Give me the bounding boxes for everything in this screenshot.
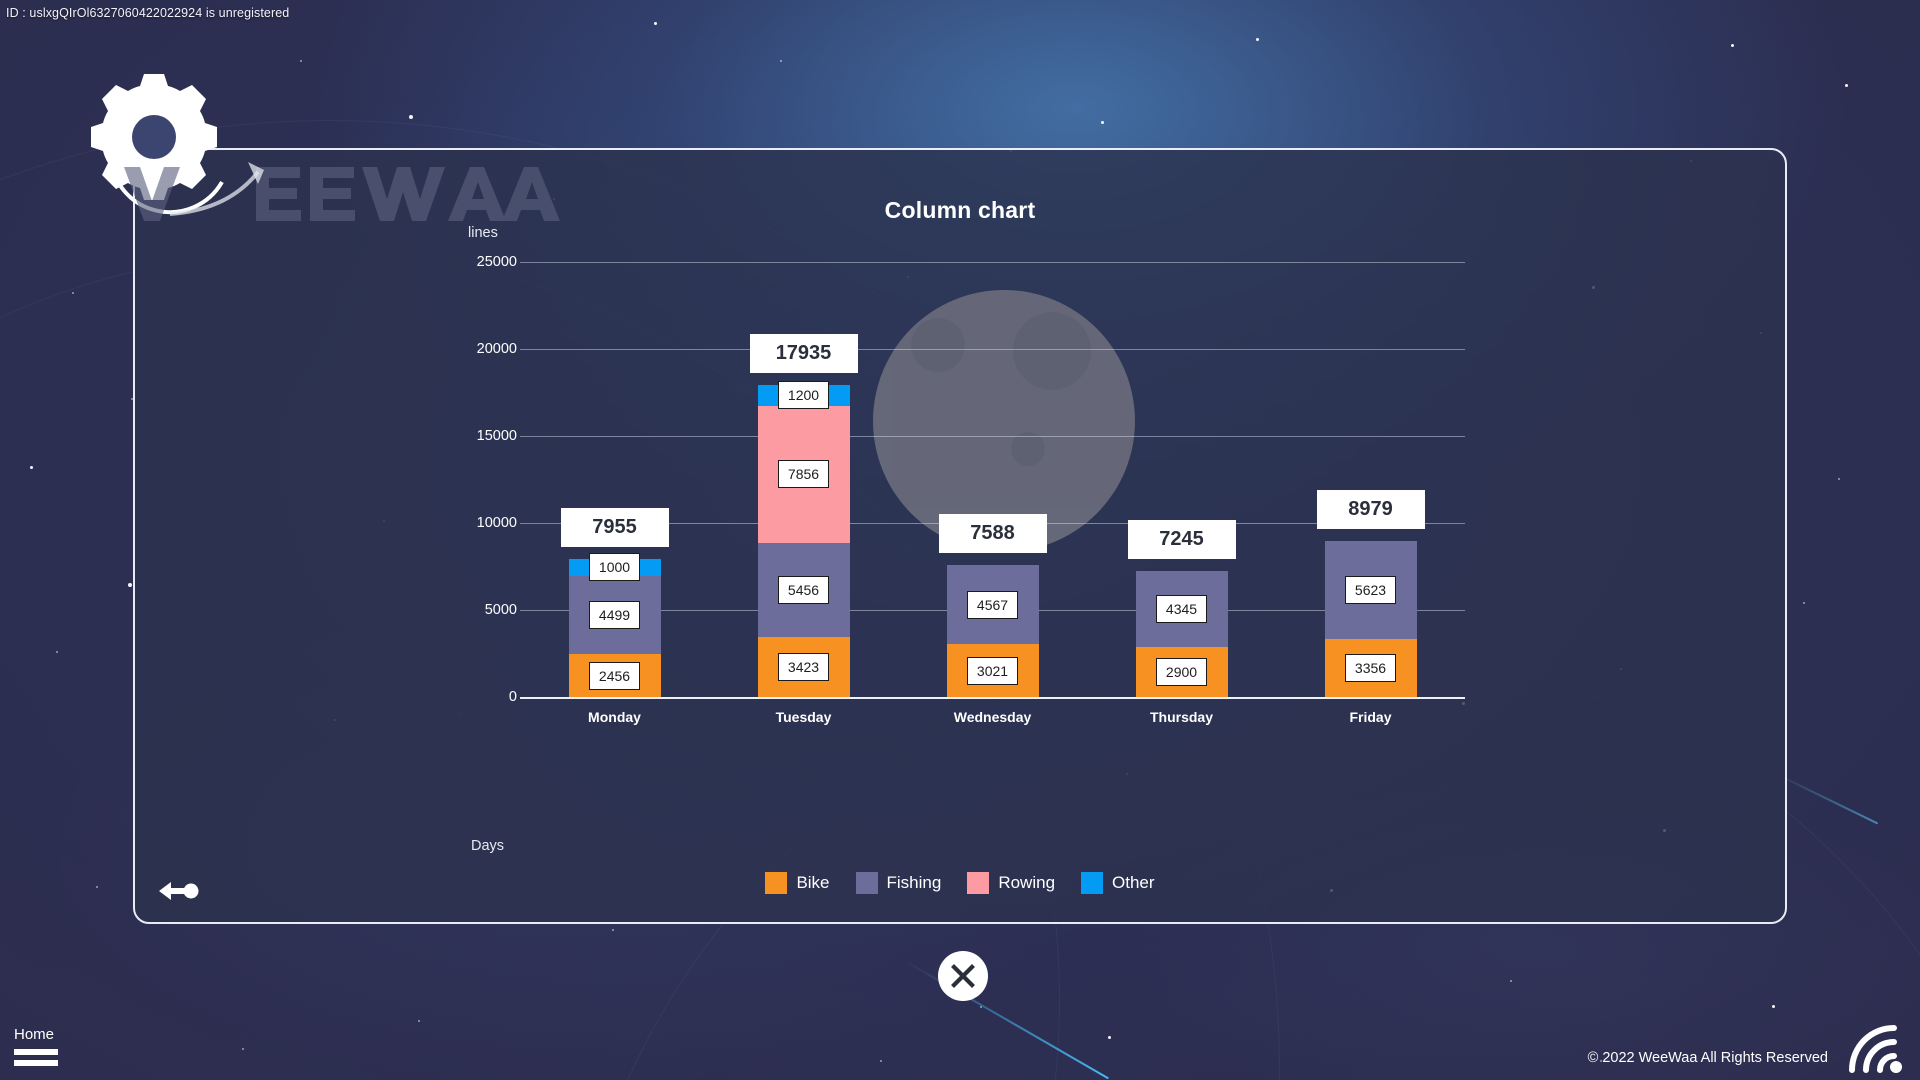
y-axis-tick-label: 5000	[485, 602, 517, 618]
bar-group[interactable]: 302145677588Wednesday	[947, 565, 1039, 697]
legend-swatch	[1081, 872, 1103, 894]
back-arrow-icon[interactable]	[157, 878, 201, 904]
legend-label: Fishing	[887, 873, 942, 893]
wifi-signal-icon	[1842, 1018, 1914, 1076]
bar-segment[interactable]: 1200	[758, 385, 850, 406]
unregistered-id-notice: ID : uslxgQIrOl6327060422022924 is unreg…	[6, 6, 289, 20]
legend-swatch	[967, 872, 989, 894]
axis-baseline	[520, 697, 1465, 699]
y-axis-tick-label: 20000	[477, 341, 517, 357]
gridline	[520, 436, 1465, 437]
legend-item[interactable]: Fishing	[856, 872, 942, 894]
bar-group[interactable]: 290043457245Thursday	[1136, 571, 1228, 697]
legend-item[interactable]: Other	[1081, 872, 1155, 894]
home-indicator-bar-2	[14, 1060, 58, 1066]
x-axis-category-label: Wednesday	[954, 709, 1032, 725]
legend-item[interactable]: Rowing	[967, 872, 1055, 894]
home-nav[interactable]: Home	[14, 1026, 58, 1066]
bar-group[interactable]: 335656238979Friday	[1325, 541, 1417, 697]
legend-swatch	[856, 872, 878, 894]
footer-copyright: © 2022 WeeWaa All Rights Reserved	[1588, 1050, 1828, 1066]
y-axis-tick-label: 10000	[477, 515, 517, 531]
chart-legend: BikeFishingRowingOther	[135, 872, 1785, 894]
bar-segment-value-label: 1200	[778, 381, 829, 409]
bar-segment-value-label: 3423	[778, 653, 829, 681]
plot-area: 0500010000150002000025000 24564499100079…	[520, 262, 1465, 697]
x-axis-category-label: Monday	[588, 709, 641, 725]
bar-total-label: 7588	[939, 514, 1047, 553]
x-axis-category-label: Thursday	[1150, 709, 1213, 725]
bar-total-label: 7955	[561, 508, 669, 547]
bar-segment-value-label: 7856	[778, 460, 829, 488]
bar-segment[interactable]: 4567	[947, 565, 1039, 644]
legend-swatch	[765, 872, 787, 894]
legend-label: Other	[1112, 873, 1155, 893]
bar-segment-value-label: 5623	[1345, 576, 1396, 604]
legend-item[interactable]: Bike	[765, 872, 829, 894]
close-button[interactable]	[938, 951, 988, 1001]
chart-title: Column chart	[135, 197, 1785, 224]
close-icon	[950, 963, 976, 989]
home-indicator-bar-1	[14, 1049, 58, 1055]
bar-segment-value-label: 4345	[1156, 595, 1207, 623]
bar-segment-value-label: 3021	[967, 657, 1018, 685]
x-axis-category-label: Tuesday	[776, 709, 832, 725]
bar-segment[interactable]: 5623	[1325, 541, 1417, 639]
gridline	[520, 262, 1465, 263]
bar-segment[interactable]: 3021	[947, 644, 1039, 697]
gridline	[520, 349, 1465, 350]
bar-segment-value-label: 4567	[967, 591, 1018, 619]
bar-segment-value-label: 2456	[589, 662, 640, 690]
y-axis-tick-label: 15000	[477, 428, 517, 444]
legend-label: Rowing	[998, 873, 1055, 893]
y-axis-tick-label: 25000	[477, 254, 517, 270]
bar-total-label: 7245	[1128, 520, 1236, 559]
bar-segment-value-label: 1000	[589, 553, 640, 581]
home-label: Home	[14, 1026, 58, 1043]
bar-segment[interactable]: 1000	[569, 559, 661, 576]
bar-segment[interactable]: 3356	[1325, 639, 1417, 697]
x-axis-label: Days	[471, 838, 504, 854]
x-axis-category-label: Friday	[1349, 709, 1391, 725]
bar-segment-value-label: 5456	[778, 576, 829, 604]
bar-total-label: 17935	[750, 334, 858, 373]
bar-segment[interactable]: 4345	[1136, 571, 1228, 647]
bar-segment-value-label: 4499	[589, 601, 640, 629]
bar-segment-value-label: 3356	[1345, 654, 1396, 682]
bar-segment[interactable]: 2456	[569, 654, 661, 697]
bar-group[interactable]: 342354567856120017935Tuesday	[758, 385, 850, 697]
bar-segment-value-label: 2900	[1156, 658, 1207, 686]
bar-segment[interactable]: 4499	[569, 576, 661, 654]
bar-group[interactable]: 2456449910007955Monday	[569, 559, 661, 697]
y-axis-label: lines	[468, 225, 498, 241]
bar-segment[interactable]: 2900	[1136, 647, 1228, 697]
bar-total-label: 8979	[1317, 490, 1425, 529]
bar-segment[interactable]: 7856	[758, 406, 850, 543]
y-axis-tick-label: 0	[509, 689, 517, 705]
bar-segment[interactable]: 5456	[758, 543, 850, 638]
bar-segment[interactable]: 3423	[758, 637, 850, 697]
legend-label: Bike	[796, 873, 829, 893]
chart-panel: Column chart lines Days 0500010000150002…	[133, 148, 1787, 924]
